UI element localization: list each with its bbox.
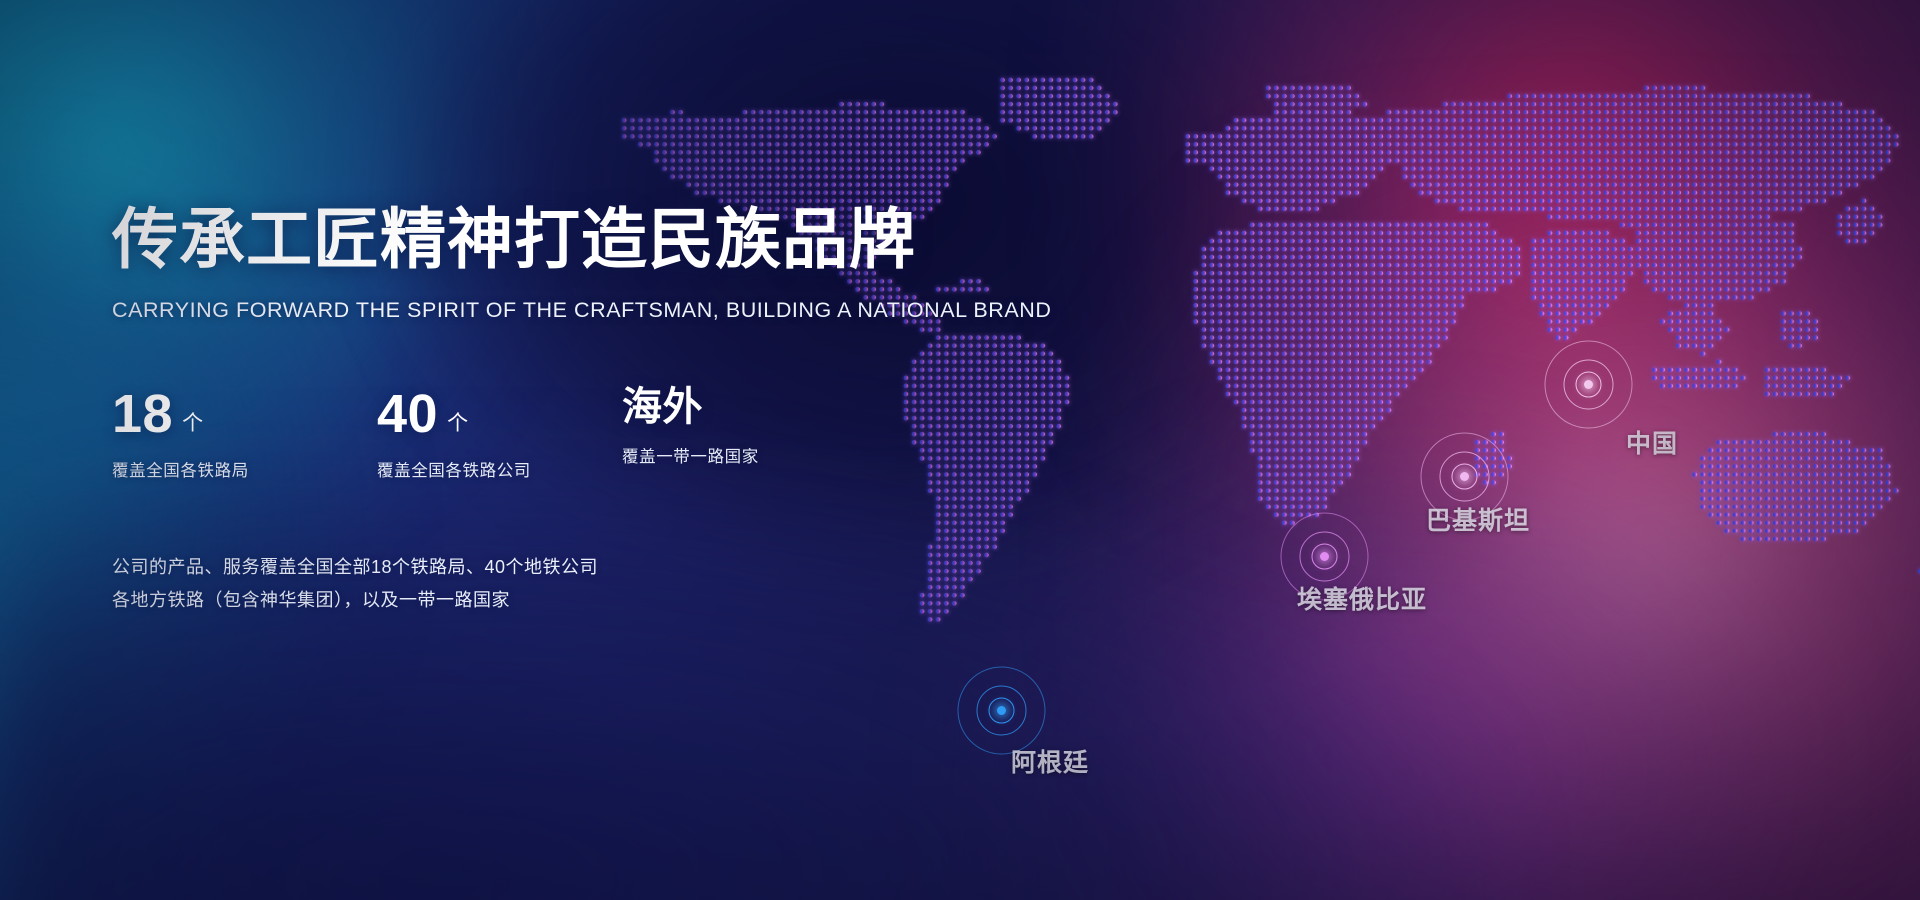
stat-value-row: 40个 xyxy=(377,387,577,441)
description-paragraph: 公司的产品、服务覆盖全国全部18个铁路局、40个地铁公司各地方铁路（包含神华集团… xyxy=(112,551,1012,617)
map-marker-pakistan[interactable] xyxy=(1464,476,1465,477)
stat-unit: 个 xyxy=(447,407,468,437)
stats-row: 18个覆盖全国各铁路局40个覆盖全国各铁路公司海外覆盖一带一路国家 xyxy=(112,387,1012,481)
stat-item: 海外覆盖一带一路国家 xyxy=(622,387,822,481)
stat-value-row: 海外 xyxy=(622,387,822,427)
stat-caption: 覆盖全国各铁路公司 xyxy=(377,457,577,481)
stat-value: 18 xyxy=(112,387,173,441)
map-label-argentina: 阿根廷 xyxy=(1011,743,1089,779)
map-label-china: 中国 xyxy=(1626,424,1678,460)
map-label-pakistan: 巴基斯坦 xyxy=(1426,501,1530,537)
marker-core xyxy=(1320,552,1329,561)
stat-caption: 覆盖一带一路国家 xyxy=(622,443,822,467)
hero-content: 传承工匠精神打造民族品牌 CARRYING FORWARD THE SPIRIT… xyxy=(112,0,1012,617)
map-marker-argentina[interactable] xyxy=(1001,710,1002,711)
marker-core xyxy=(1584,380,1593,389)
page-subtitle: CARRYING FORWARD THE SPIRIT OF THE CRAFT… xyxy=(112,298,1012,323)
stat-item: 18个覆盖全国各铁路局 xyxy=(112,387,312,481)
stat-caption: 覆盖全国各铁路局 xyxy=(112,457,312,481)
page-title: 传承工匠精神打造民族品牌 xyxy=(112,206,1012,272)
map-marker-ethiopia[interactable] xyxy=(1324,556,1325,557)
stat-unit: 个 xyxy=(182,407,203,437)
stat-value: 海外 xyxy=(622,387,703,427)
stat-value-row: 18个 xyxy=(112,387,312,441)
hero-banner: 中国巴基斯坦埃塞俄比亚阿根廷 传承工匠精神打造民族品牌 CARRYING FOR… xyxy=(0,0,1920,900)
stat-item: 40个覆盖全国各铁路公司 xyxy=(377,387,577,481)
map-marker-china[interactable] xyxy=(1588,384,1589,385)
description-line: 公司的产品、服务覆盖全国全部18个铁路局、40个地铁公司 xyxy=(112,551,1012,584)
map-label-ethiopia: 埃塞俄比亚 xyxy=(1297,580,1427,616)
marker-core xyxy=(997,706,1006,715)
marker-core xyxy=(1460,472,1469,481)
description-line: 各地方铁路（包含神华集团），以及一带一路国家 xyxy=(112,584,1012,617)
stat-value: 40 xyxy=(377,387,438,441)
